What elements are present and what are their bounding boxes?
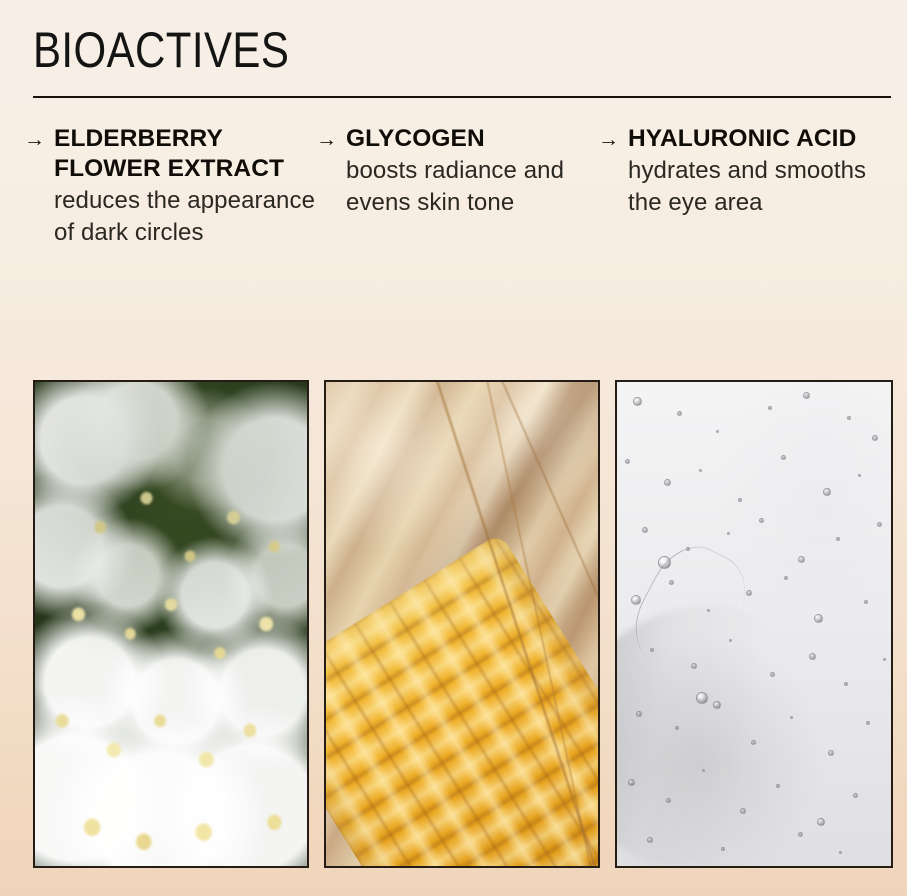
gel-bubble: [647, 837, 653, 843]
bioactive-name: GLYCOGEN: [346, 124, 598, 154]
gel-bubble: [746, 590, 752, 596]
corn-silk-strands: [326, 382, 598, 866]
gel-bubble: [628, 779, 635, 786]
bioactive-item-hyaluronic-acid: → HYALURONIC ACID hydrates and smooths t…: [598, 124, 894, 219]
gel-bubble: [836, 537, 840, 541]
arrow-right-icon: →: [598, 124, 619, 155]
gel-bubble: [877, 522, 882, 527]
gel-bubble: [738, 498, 742, 502]
bioactives-list: → ELDERBERRY FLOWER EXTRACT reduces the …: [24, 124, 894, 249]
bioactive-name: HYALURONIC ACID: [628, 124, 894, 154]
gel-bubble: [853, 793, 858, 798]
gel-bubble: [677, 411, 682, 416]
gel-bubble: [823, 488, 831, 496]
gel-bubble: [636, 711, 642, 717]
gel-bubble: [691, 663, 697, 669]
elderflower-blossoms-photo: [33, 380, 309, 868]
gel-bubble: [883, 658, 886, 661]
gel-bubble: [707, 609, 710, 612]
arrow-right-icon: →: [24, 124, 45, 155]
gel-bubble: [716, 430, 719, 433]
gel-bubble: [658, 556, 671, 569]
elderflower-depth-blur: [35, 382, 307, 866]
gel-bubble: [828, 750, 834, 756]
gel-bubble: [666, 798, 671, 803]
gel-bubble: [729, 639, 732, 642]
gel-bubble: [675, 726, 679, 730]
gel-bubble: [809, 653, 816, 660]
ingredient-image-strip: [33, 380, 891, 868]
gel-bubble: [784, 576, 788, 580]
clear-gel-bubbles-photo: [615, 380, 893, 868]
bioactive-name: ELDERBERRY FLOWER EXTRACT: [54, 124, 316, 184]
bioactive-text-block: GLYCOGEN boosts radiance and evens skin …: [346, 124, 598, 219]
gel-bubble: [839, 851, 842, 854]
bioactives-panel: BIOACTIVES → ELDERBERRY FLOWER EXTRACT r…: [0, 0, 907, 896]
gel-bubble: [664, 479, 671, 486]
gel-bubble: [776, 784, 780, 788]
bioactive-description: reduces the appearance of dark circles: [54, 185, 316, 249]
page-title: BIOACTIVES: [33, 22, 754, 78]
gel-bubble: [759, 518, 764, 523]
gel-bubble: [727, 532, 730, 535]
photo-inner: [326, 382, 598, 866]
gel-bubble: [625, 459, 630, 464]
bioactive-description: hydrates and smooths the eye area: [628, 155, 894, 219]
gel-bubble: [699, 469, 702, 472]
gel-bubble: [864, 600, 868, 604]
gel-bubble: [798, 556, 805, 563]
gel-bubble: [817, 818, 825, 826]
gel-bubble: [866, 721, 870, 725]
gel-bubble: [858, 474, 861, 477]
gel-bubble: [770, 672, 775, 677]
bioactive-text-block: HYALURONIC ACID hydrates and smooths the…: [628, 124, 894, 219]
gel-bubble: [790, 716, 793, 719]
gel-bubble: [686, 547, 690, 551]
gel-bubble: [751, 740, 756, 745]
bioactive-item-elderberry-flower-extract: → ELDERBERRY FLOWER EXTRACT reduces the …: [24, 124, 316, 249]
gel-bubble: [798, 832, 803, 837]
gel-bubble: [847, 416, 851, 420]
arrow-right-icon: →: [316, 124, 337, 155]
bioactive-item-glycogen: → GLYCOGEN boosts radiance and evens ski…: [316, 124, 598, 219]
corn-cob-photo: [324, 380, 600, 868]
gel-bubble: [669, 580, 674, 585]
header: BIOACTIVES: [33, 22, 891, 78]
gel-bubble: [844, 682, 848, 686]
gel-bubble: [642, 527, 648, 533]
gel-bubble-cluster: [617, 382, 891, 866]
gel-bubble: [702, 769, 705, 772]
gel-bubble: [696, 692, 708, 704]
title-divider: [33, 96, 891, 98]
gel-bubble: [713, 701, 721, 709]
gel-bubble: [803, 392, 810, 399]
gel-bubble: [781, 455, 786, 460]
gel-bubble: [650, 648, 654, 652]
bioactive-text-block: ELDERBERRY FLOWER EXTRACT reduces the ap…: [54, 124, 316, 249]
bioactive-description: boosts radiance and evens skin tone: [346, 155, 598, 219]
photo-inner: [35, 382, 307, 866]
gel-bubble: [633, 397, 642, 406]
gel-bubble: [740, 808, 746, 814]
gel-bubble: [768, 406, 772, 410]
gel-bubble: [721, 847, 725, 851]
gel-bubble: [872, 435, 878, 441]
photo-inner: [617, 382, 891, 866]
gel-bubble: [631, 595, 641, 605]
gel-bubble: [814, 614, 823, 623]
